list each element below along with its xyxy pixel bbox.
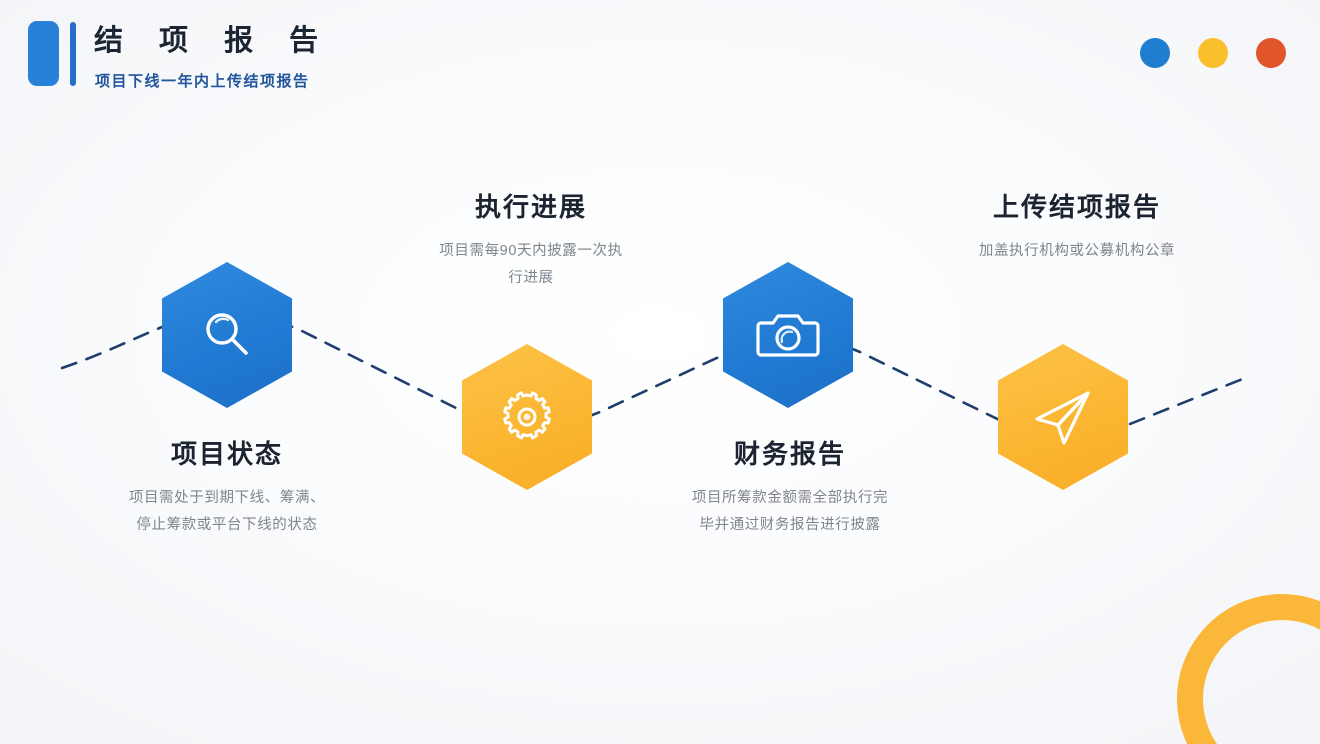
step-description-line-1: 加盖执行机构或公募机构公章 [897, 238, 1257, 265]
camera-icon [755, 305, 821, 365]
step-node-financial-report[interactable] [723, 262, 853, 408]
step-description-line-2: 停止筹款或平台下线的状态 [47, 512, 407, 539]
header-dot-group [1140, 38, 1286, 68]
step-title: 执行进展 [351, 190, 711, 224]
step-title: 上传结项报告 [897, 190, 1257, 224]
dot-blue-icon [1140, 38, 1170, 68]
step-description: 项目所筹款金额需全部执行完 毕并通过财务报告进行披露 [610, 485, 970, 539]
step-description-line-1: 项目需每90天内披露一次执 [351, 238, 711, 265]
hexagon-shape-blue [162, 262, 292, 408]
send-icon [1030, 386, 1096, 448]
header-accent-bar [70, 22, 76, 86]
page-subtitle: 项目下线一年内上传结项报告 [95, 72, 310, 92]
step-label-financial-report: 财务报告 项目所筹款金额需全部执行完 毕并通过财务报告进行披露 [610, 437, 970, 539]
dot-yellow-icon [1198, 38, 1228, 68]
step-description: 项目需处于到期下线、筹满、 停止筹款或平台下线的状态 [47, 485, 407, 539]
page-title: 结 项 报 告 [94, 22, 332, 60]
step-description: 加盖执行机构或公募机构公章 [897, 238, 1257, 265]
step-description-line-1: 项目需处于到期下线、筹满、 [47, 485, 407, 512]
step-label-execution-progress: 执行进展 项目需每90天内披露一次执 行进展 [351, 190, 711, 292]
step-description-line-1: 项目所筹款金额需全部执行完 [610, 485, 970, 512]
magnifier-icon [196, 304, 258, 366]
step-node-execution-progress[interactable] [462, 344, 592, 490]
dot-orange-icon [1256, 38, 1286, 68]
step-description-line-2: 行进展 [351, 265, 711, 292]
step-description-line-2: 毕并通过财务报告进行披露 [610, 512, 970, 539]
step-node-upload-report[interactable] [998, 344, 1128, 490]
slide-header: 结 项 报 告 项目下线一年内上传结项报告 [0, 0, 1320, 120]
step-label-project-status: 项目状态 项目需处于到期下线、筹满、 停止筹款或平台下线的状态 [47, 437, 407, 539]
decorative-ring [1177, 594, 1320, 744]
step-title: 财务报告 [610, 437, 970, 471]
header-accent-block [28, 21, 59, 86]
step-node-project-status[interactable] [162, 262, 292, 408]
hexagon-shape-amber [998, 344, 1128, 490]
step-label-upload-report: 上传结项报告 加盖执行机构或公募机构公章 [897, 190, 1257, 265]
hexagon-shape-blue [723, 262, 853, 408]
hexagon-shape-amber [462, 344, 592, 490]
slide-canvas: 结 项 报 告 项目下线一年内上传结项报告 项目状态 项目需处于到期下线、筹满、… [0, 0, 1320, 744]
step-description: 项目需每90天内披露一次执 行进展 [351, 238, 711, 292]
step-title: 项目状态 [47, 437, 407, 471]
gear-icon [495, 385, 559, 449]
